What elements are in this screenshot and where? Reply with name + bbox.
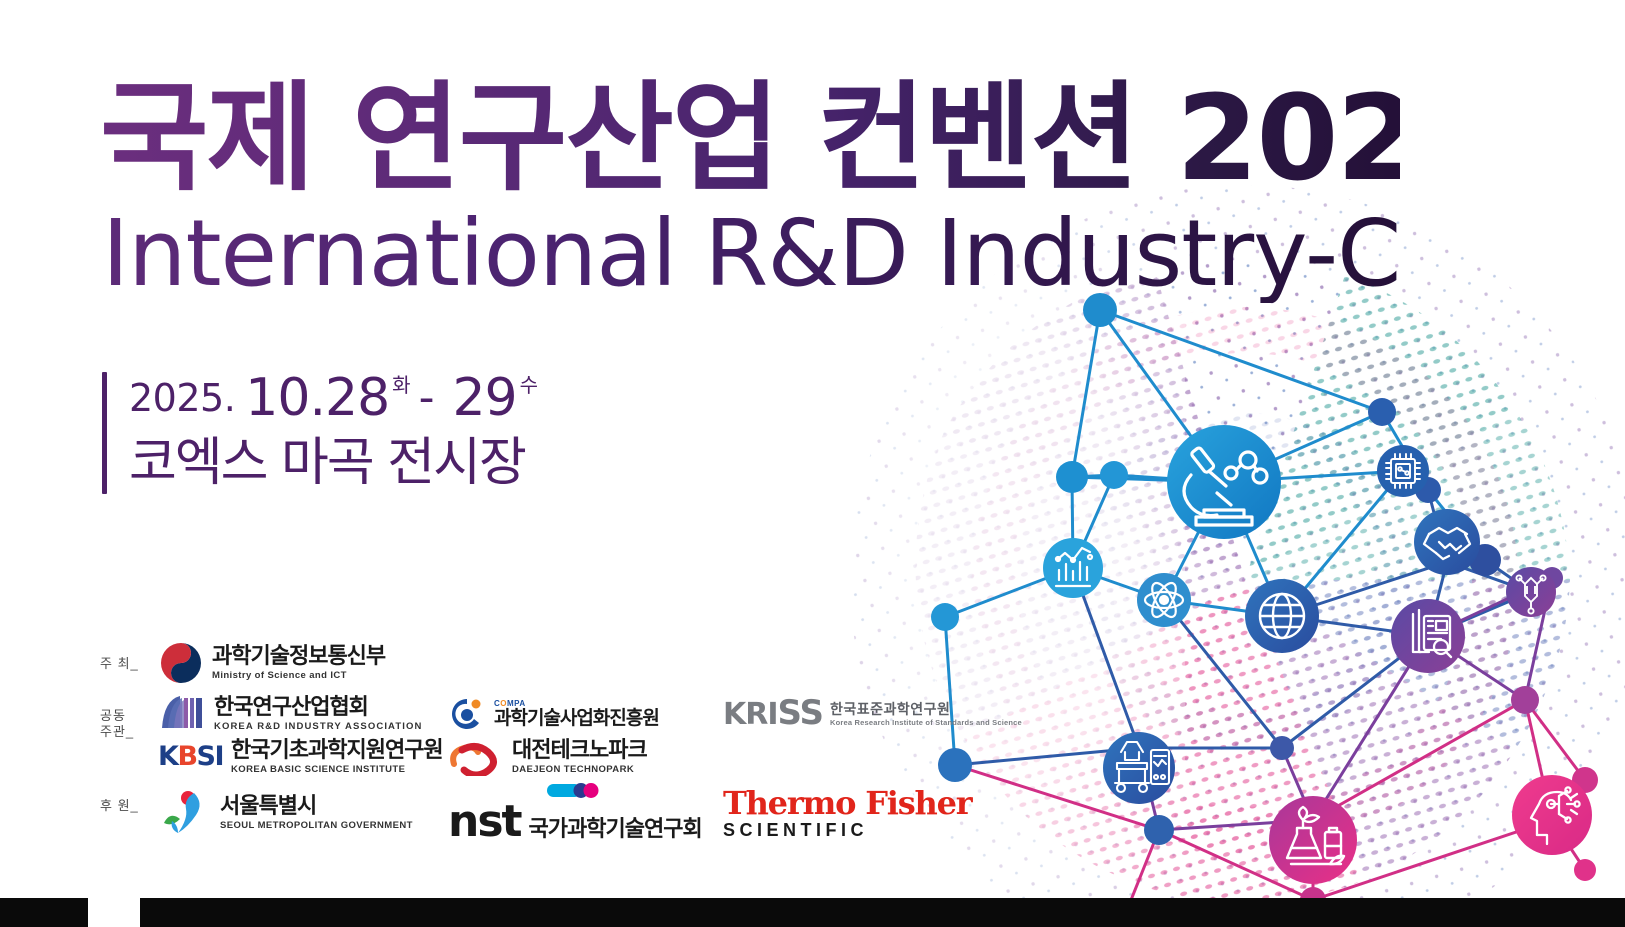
sponsor-block: 주 최_ 과학기술정보통신부 Ministry of Science [100,640,980,850]
compa-icon [448,695,486,733]
sponsor-name-kr: 한국연구산업협회 [214,696,422,720]
seoul-icon [158,789,212,837]
microchip-icon [1377,445,1429,497]
sponsor-kriss: KRISS 한국표준과학연구원 Korea Research Institute… [723,698,963,730]
molecule-icon [1506,567,1556,617]
event-info-block: 2025. 10.28 화 - 29 수 코엑스 마곡 전시장 [102,372,538,494]
sponsor-name-kr: 대전테크노파크 [512,739,647,763]
microscope-icon [1167,425,1281,539]
poster-root: 국제 연구산업 컨벤션 2025 International R&D Indus… [0,0,1625,927]
sponsor-group-co-organizers: 공동 주관_ [100,692,980,776]
sponsor-thermofisher: Thermo Fisher SCIENTIFIC [723,786,963,840]
sponsor-label-host: 주 최_ [100,640,158,672]
atom-icon [1137,573,1191,627]
sponsor-name-kr: 과학기술정보통신부 [212,645,385,669]
network-edges [945,310,1585,915]
krida-icon [158,692,206,736]
document-search-icon [1391,599,1465,673]
date-year: 2025. [129,372,235,424]
dtp-icon [448,738,504,776]
ai-brain-icon [1512,775,1592,855]
globe-icon [1245,579,1319,653]
sponsor-name-en: Ministry of Science and ICT [212,670,385,682]
sponsor-name-kr: 과학기술사업화진흥원 [494,708,659,729]
page-title-korean: 국제 연구산업 컨벤션 2025 [100,78,1400,198]
title-block: 국제 연구산업 컨벤션 2025 International R&D Indus… [100,78,1400,303]
sponsor-name-en: Korea Research Institute of Standards an… [830,718,1022,727]
bio-flask-icon [1269,796,1357,884]
sponsor-name-kr: 서울특별시 [220,795,413,819]
nst-wordmark: nst [448,800,521,844]
sponsor-seoul: 서울특별시 SEOUL METROPOLITAN GOVERNMENT [158,789,448,837]
date-end: 29 [452,372,516,424]
bar-chart-icon [1043,538,1103,598]
sponsor-label-supporters: 후 원_ [100,782,158,814]
sponsor-krida: 한국연구산업협회 KOREA R&D INDUSTRY ASSOCIATION [158,692,448,736]
sponsor-name-kr: 국가과학기술연구회 [529,818,702,842]
page-title-english: International R&D Industry-Con [102,206,1400,303]
thermofisher-scientific: SCIENTIFIC [723,820,971,840]
sponsor-name-en: DAEJEON TECHNOPARK [512,764,647,776]
sponsor-daejeon-technopark: 대전테크노파크 DAEJEON TECHNOPARK [448,738,723,776]
taegeuk-icon [158,640,204,686]
sponsor-compa: COMPA 과학기술사업화진흥원 [448,695,723,733]
date-end-weekday: 수 [520,372,538,398]
date-start: 10.28 [245,372,389,424]
accent-rule [102,372,107,494]
sponsor-nst: nst 국가과학기술연구회 [448,782,723,844]
sponsor-kbsi: KBSI 한국기초과학지원연구원 KOREA BASIC SCIENCE INS… [158,739,448,776]
sponsor-name-kr: 한국표준과학연구원 [830,702,1022,718]
sponsor-label-co-organizers: 공동 주관_ [100,692,158,740]
bottom-bar-main [140,898,1625,927]
sponsor-msit: 과학기술정보통신부 Ministry of Science and ICT [158,640,448,686]
factory-icon [1103,732,1175,804]
sponsor-name-en: SEOUL METROPOLITAN GOVERNMENT [220,820,413,832]
date-dash: - [419,372,435,424]
bottom-bar-left [0,898,88,927]
sponsor-name-en: KOREA BASIC SCIENCE INSTITUTE [231,764,443,776]
sponsor-name-en: KOREA R&D INDUSTRY ASSOCIATION [214,721,422,733]
kbsi-wordmark: KBSI [158,743,223,771]
sponsor-group-host: 주 최_ 과학기술정보통신부 Ministry of Science [100,640,980,686]
event-date: 2025. 10.28 화 - 29 수 [129,372,538,424]
event-venue: 코엑스 마곡 전시장 [129,432,538,494]
network-plain-nodes [931,293,1598,927]
handshake-icon [1414,509,1480,575]
thermofisher-wordmark: Thermo Fisher [723,786,971,820]
sponsor-name-kr: 한국기초과학지원연구원 [231,739,443,763]
sponsor-group-supporters: 후 원_ 서울특별시 [100,782,980,844]
kriss-wordmark: KRISS [723,698,823,730]
date-start-weekday: 화 [392,372,410,398]
